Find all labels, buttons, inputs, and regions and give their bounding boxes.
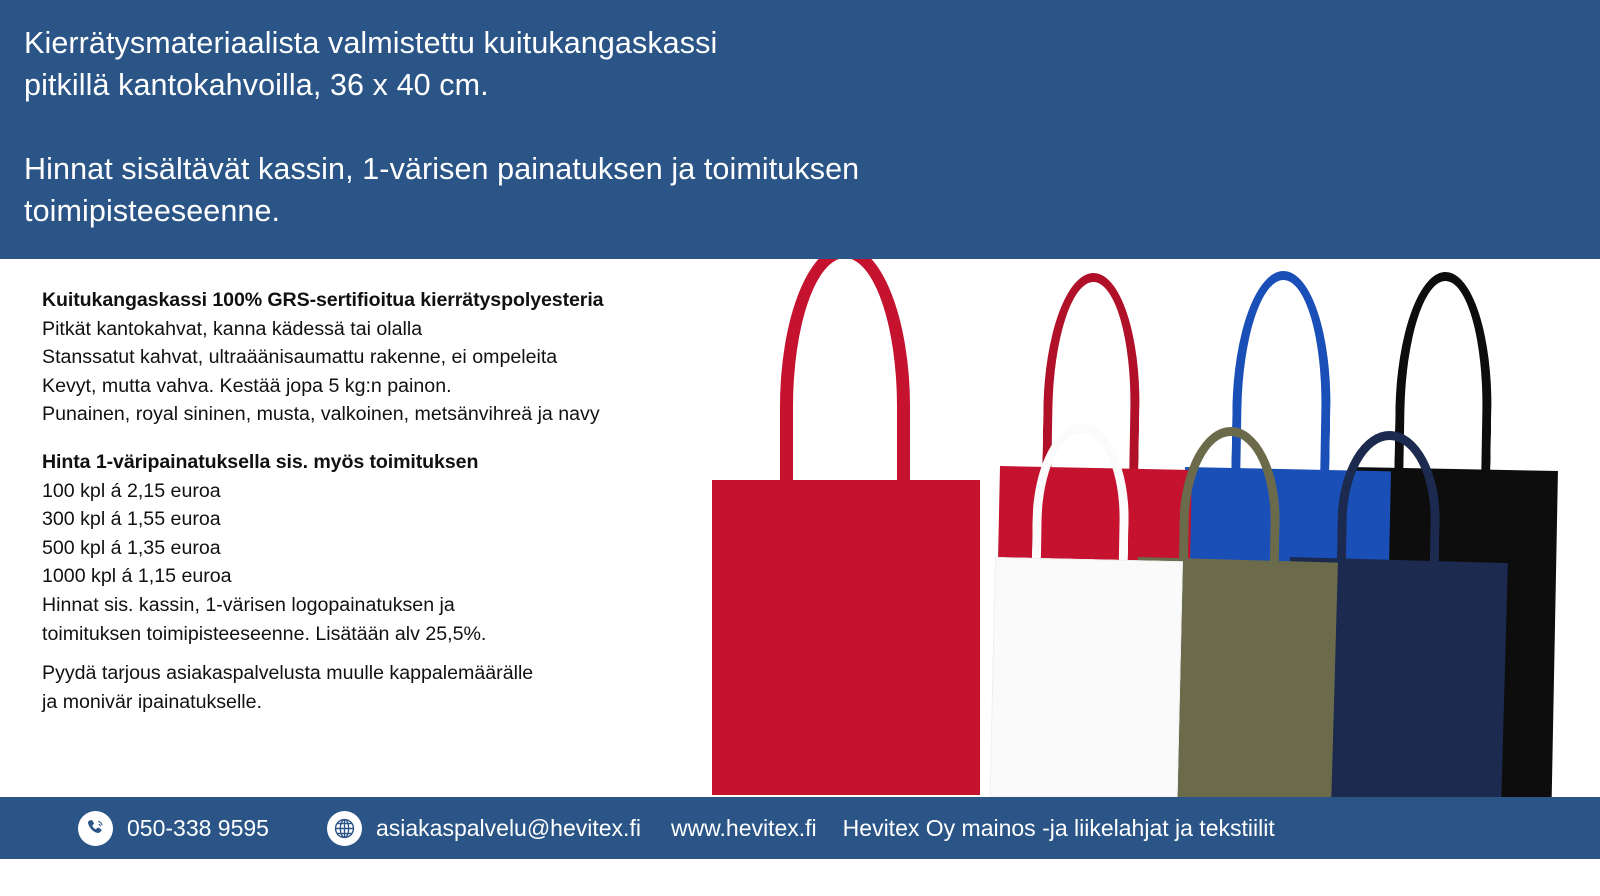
quote-line-1: Pyydä tarjous asiakaspalvelusta muulle k… bbox=[42, 659, 533, 688]
quote-request-block: Pyydä tarjous asiakaspalvelusta muulle k… bbox=[42, 659, 533, 716]
product-description-panel: Kuitukangaskassi 100% GRS-sertifioitua k… bbox=[0, 259, 700, 797]
quote-line-2: ja monivär ipainatukselle. bbox=[42, 688, 533, 717]
header-line-4: toimipisteeseenne. bbox=[24, 190, 1124, 232]
product-photo-group bbox=[690, 259, 1600, 797]
bottom-white-strip bbox=[0, 859, 1600, 896]
header-line-3: Hinnat sisältävät kassin, 1-värisen pain… bbox=[24, 148, 1124, 190]
bag-white bbox=[995, 449, 1183, 797]
bag-white-body bbox=[988, 557, 1183, 797]
header-spacer bbox=[24, 106, 1124, 148]
company-tagline: Hevitex Oy mainos -ja liikelahjat ja tek… bbox=[843, 815, 1275, 841]
price-row-300: 300 kpl á 1,55 euroa bbox=[42, 505, 486, 534]
globe-icon bbox=[327, 811, 362, 846]
pricing-block: Hinta 1-väripainatuksella sis. myös toim… bbox=[42, 448, 486, 648]
spec-line-4: Punainen, royal sininen, musta, valkoine… bbox=[42, 400, 603, 429]
spec-line-1: Pitkät kantokahvat, kanna kädessä tai ol… bbox=[42, 315, 603, 344]
contact-footer: 050-338 9595 asiakaspalvelu@hevitex.fi bbox=[0, 797, 1600, 859]
footer-phone-item[interactable]: 050-338 9595 bbox=[78, 811, 269, 846]
bag-red-large bbox=[712, 259, 980, 797]
website-url[interactable]: www.hevitex.fi bbox=[671, 815, 817, 841]
bag-red-large-body bbox=[712, 480, 980, 795]
pricing-heading: Hinta 1-väripainatuksella sis. myös toim… bbox=[42, 448, 486, 477]
phone-icon bbox=[78, 811, 113, 846]
advertisement-page: Kierrätysmateriaalista valmistettu kuitu… bbox=[0, 0, 1600, 896]
spec-block: Kuitukangaskassi 100% GRS-sertifioitua k… bbox=[42, 286, 603, 429]
spec-line-3: Kevyt, mutta vahva. Kestää jopa 5 kg:n p… bbox=[42, 372, 603, 401]
header-text-block: Kierrätysmateriaalista valmistettu kuitu… bbox=[24, 22, 1124, 232]
price-row-1000: 1000 kpl á 1,15 euroa bbox=[42, 562, 486, 591]
price-row-100: 100 kpl á 2,15 euroa bbox=[42, 477, 486, 506]
phone-number[interactable]: 050-338 9595 bbox=[127, 815, 269, 841]
pricing-note-line-2: toimituksen toimipisteeseenne. Lisätään … bbox=[42, 620, 486, 649]
spec-heading: Kuitukangaskassi 100% GRS-sertifioitua k… bbox=[42, 286, 603, 315]
price-row-500: 500 kpl á 1,35 euroa bbox=[42, 534, 486, 563]
bag-navy-handle bbox=[1337, 430, 1441, 564]
email-address[interactable]: asiakaspalvelu@hevitex.fi bbox=[376, 815, 641, 841]
bag-red-large-handle bbox=[780, 259, 910, 483]
pricing-note-line-1: Hinnat sis. kassin, 1-värisen logopainat… bbox=[42, 591, 486, 620]
footer-email-item[interactable]: asiakaspalvelu@hevitex.fi bbox=[327, 811, 641, 846]
spec-line-2: Stanssatut kahvat, ultraäänisaumattu rak… bbox=[42, 343, 603, 372]
header-banner: Kierrätysmateriaalista valmistettu kuitu… bbox=[0, 0, 1600, 259]
header-line-2: pitkillä kantokahvoilla, 36 x 40 cm. bbox=[24, 64, 1124, 106]
header-line-1: Kierrätysmateriaalista valmistettu kuitu… bbox=[24, 22, 1124, 64]
